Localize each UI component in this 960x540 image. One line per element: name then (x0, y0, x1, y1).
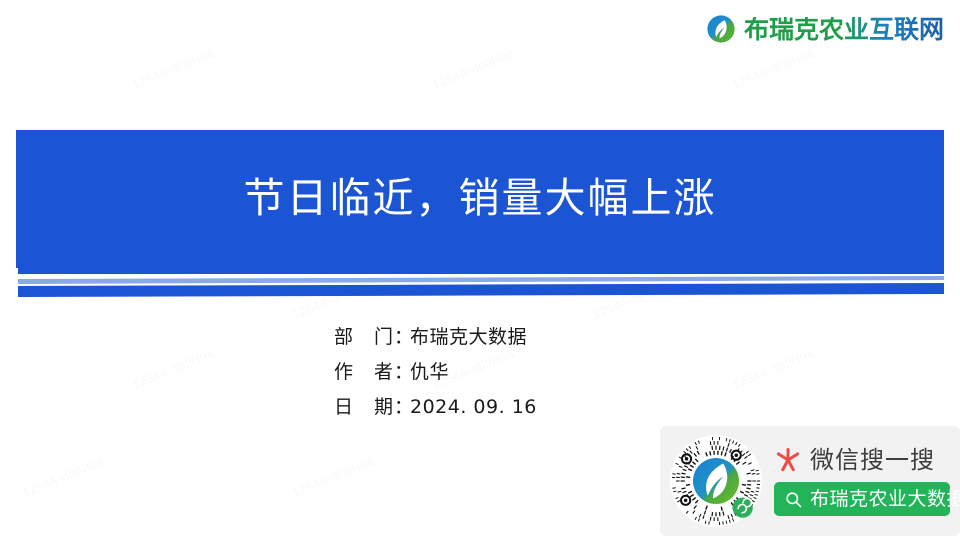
meta-row-department: 部 门： 布瑞克大数据 (334, 320, 537, 355)
meta-row-author: 作 者： 仇华 (334, 355, 537, 390)
meta-value-department: 布瑞克大数据 (410, 320, 527, 355)
wechat-search-headline: 微信搜一搜 (774, 446, 950, 474)
leaf-circle-logo-icon (706, 14, 736, 44)
title-banner: 节日临近，销量大幅上涨 (16, 130, 944, 268)
watermark-text: 1254A-db0H0a (131, 346, 217, 391)
meta-value-author: 仇华 (410, 355, 449, 390)
watermark-text: 1254A-db0H0a (21, 454, 107, 499)
watermark-text: 1254A-db0H0a (431, 46, 517, 91)
wechat-search-star-icon (774, 446, 802, 474)
miniprogram-badge-icon (733, 498, 753, 518)
search-icon (784, 490, 803, 509)
brand-logo: 布瑞克农业互联网 (706, 14, 944, 44)
watermark-text: 1254A-db0H0a (731, 46, 817, 91)
rule-line-top (18, 268, 944, 274)
watermark-text: 1254A-db0H0a (131, 46, 217, 91)
watermark-text: 1254A-db0H0a (291, 454, 377, 499)
meta-info-block: 部 门： 布瑞克大数据 作 者： 仇华 日 期： 2024. 09. 16 (334, 320, 537, 425)
brand-name: 布瑞克农业互联网 (744, 17, 944, 42)
decorative-rules (0, 268, 960, 302)
watermark-text: 1254A-db0H0a (731, 346, 817, 391)
rule-line-bottom (18, 283, 944, 297)
wechat-card-content: 微信搜一搜 布瑞克农业大数据 (774, 446, 950, 516)
wechat-search-keyword: 布瑞克农业大数据 (810, 490, 960, 509)
wechat-search-label: 微信搜一搜 (810, 448, 935, 472)
meta-value-date: 2024. 09. 16 (410, 390, 537, 425)
meta-row-date: 日 期： 2024. 09. 16 (334, 390, 537, 425)
meta-label-author: 作 者： (334, 355, 410, 390)
rule-line-thin (18, 276, 944, 284)
wechat-miniprogram-qr-code-icon[interactable] (670, 435, 762, 527)
wechat-search-button[interactable]: 布瑞克农业大数据 (774, 482, 950, 516)
wechat-search-card[interactable]: 微信搜一搜 布瑞克农业大数据 (660, 426, 960, 536)
page-title: 节日临近，销量大幅上涨 (244, 174, 717, 223)
meta-label-department: 部 门： (334, 320, 410, 355)
presentation-slide: 1254A-db0H0a1254A-db0H0a1254A-db0H0a1254… (0, 0, 960, 540)
meta-label-date: 日 期： (334, 390, 410, 425)
